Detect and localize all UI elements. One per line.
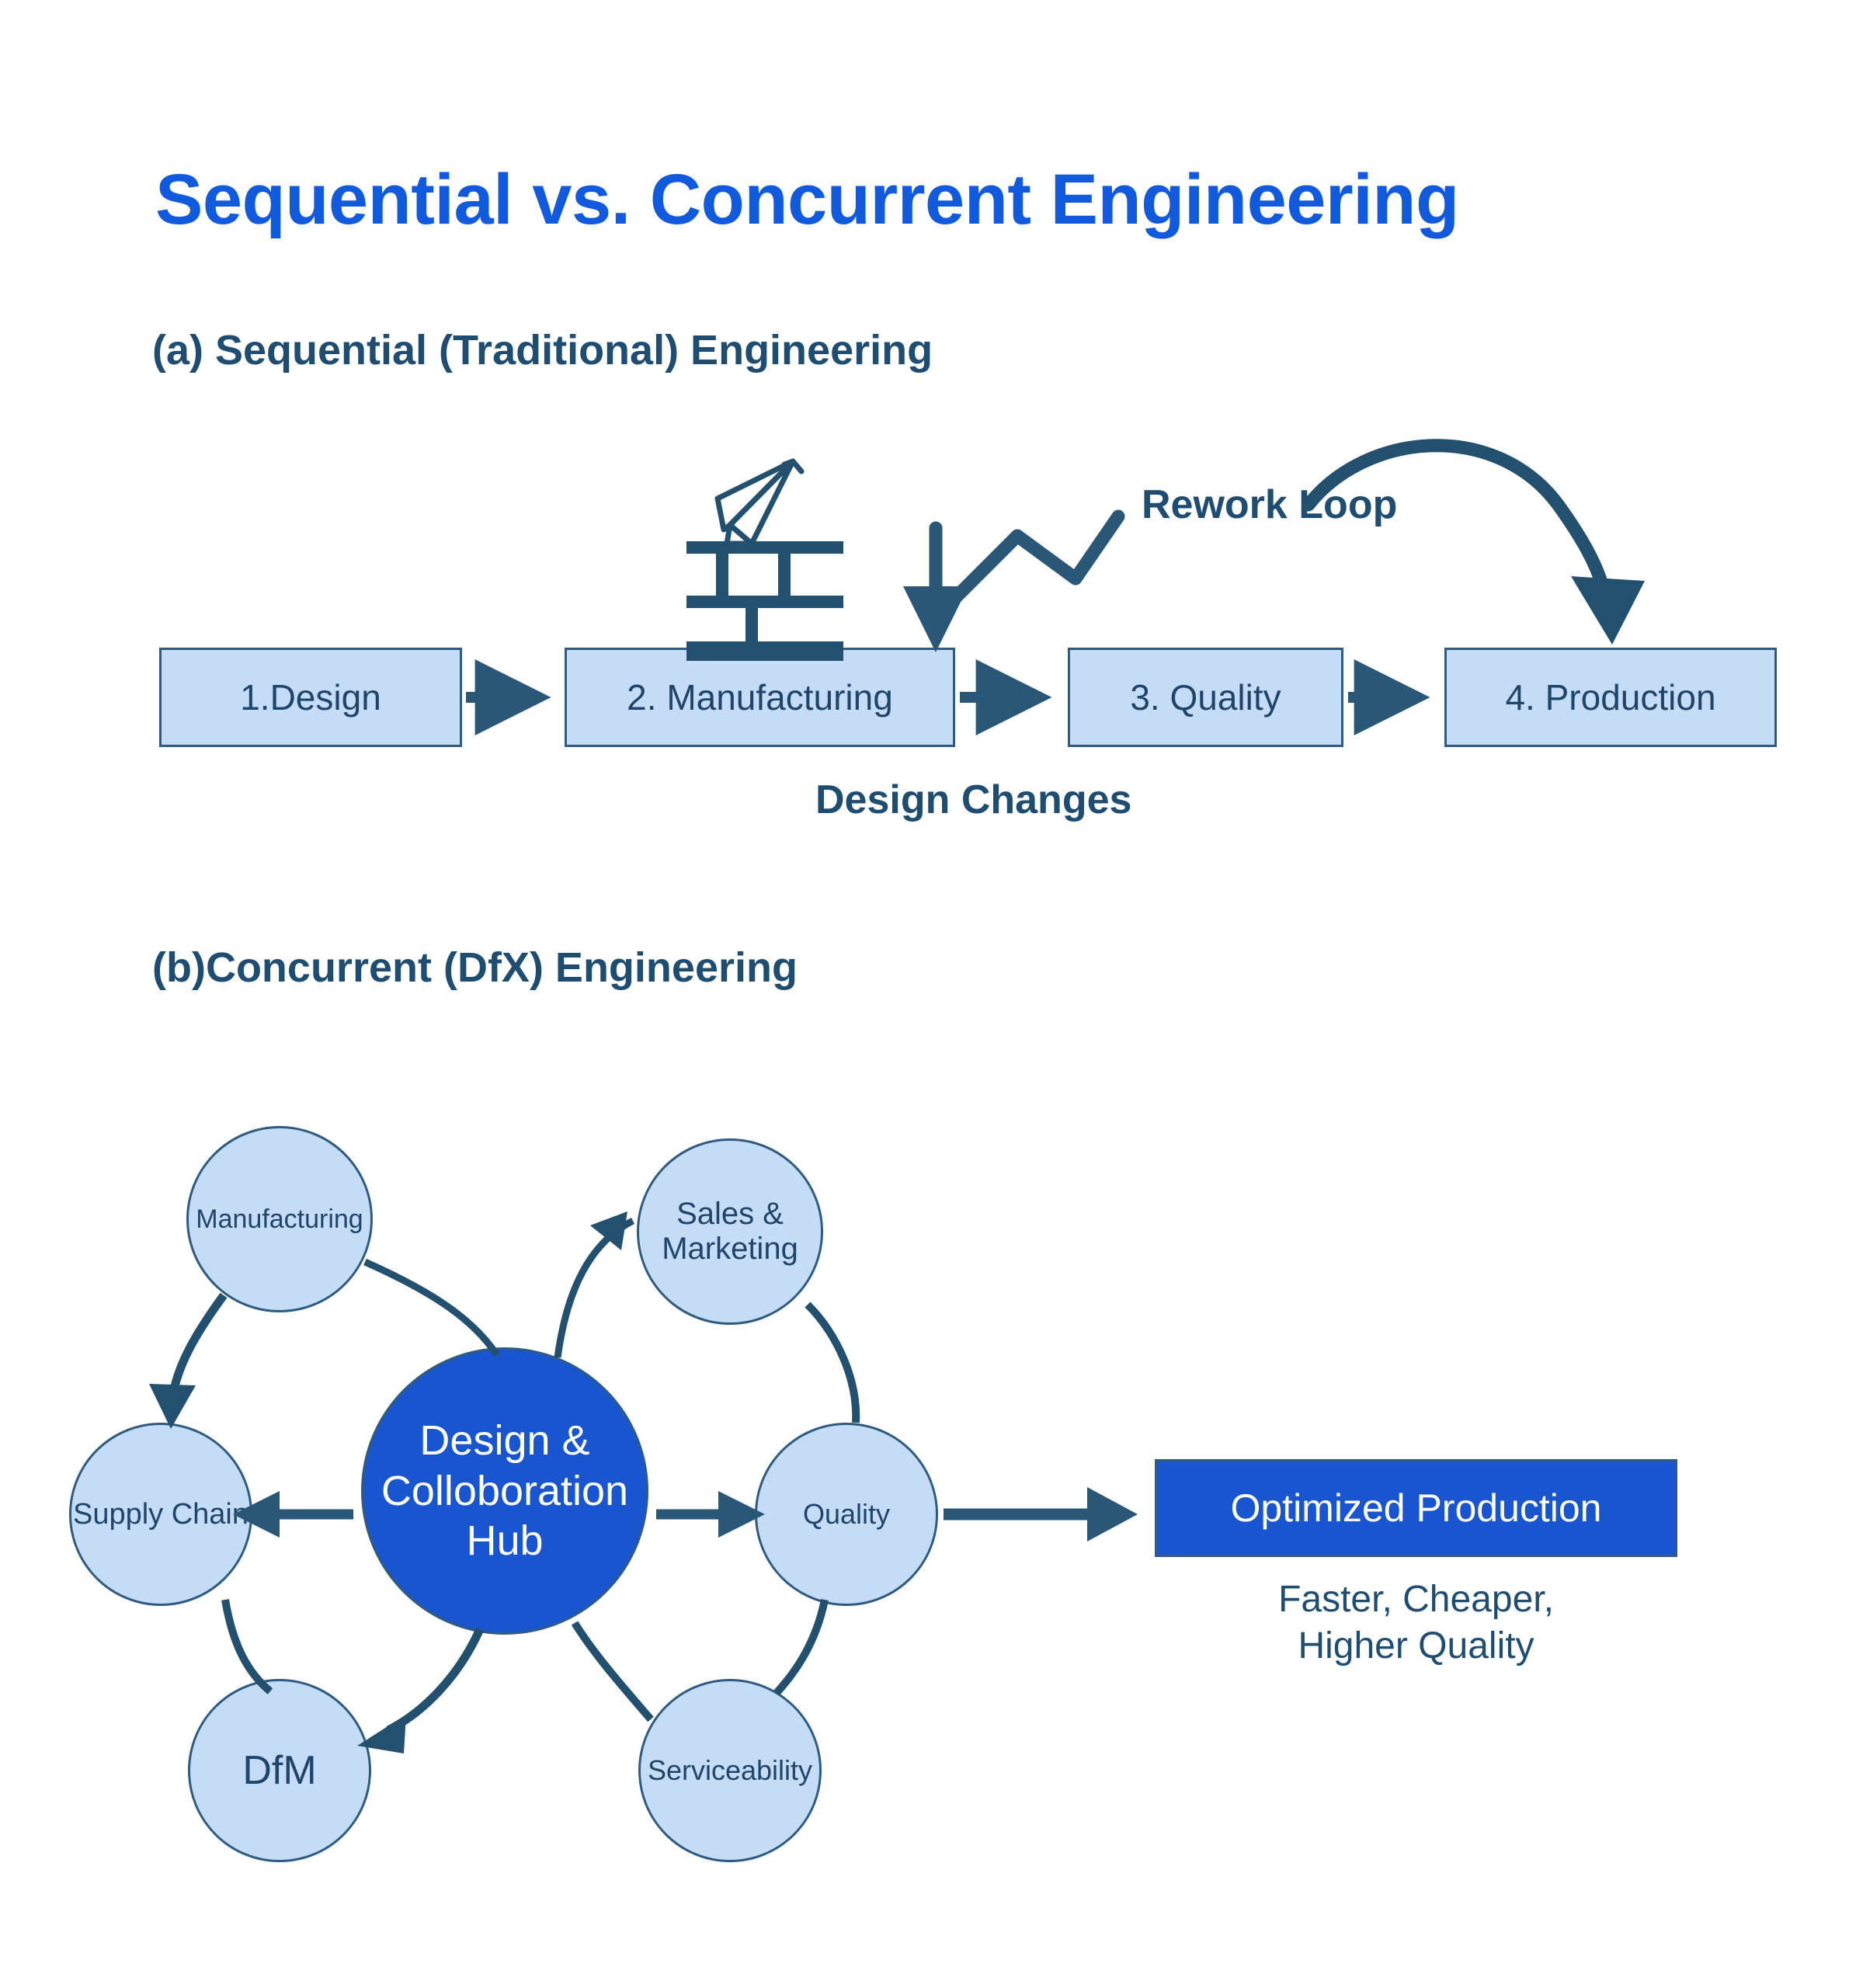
brick-wall-icon (686, 547, 843, 655)
arrow-manufacturing-to-supply-chain (149, 1295, 224, 1429)
paper-plane-icon (718, 461, 801, 544)
connector-serviceability-to-hub (575, 1623, 651, 1719)
arrow-quality-to-optimized-production (944, 1487, 1138, 1541)
connector-supply-chain-to-dfm (225, 1600, 270, 1691)
arrow-hub-to-sales-marketing (558, 1211, 633, 1357)
design-changes-zigzag-arrow (903, 516, 1118, 652)
arrow-hub-to-supply-chain (233, 1491, 353, 1538)
arrow-hub-to-dfm (357, 1629, 480, 1753)
rework-loop-arrow (1309, 446, 1645, 645)
connector-manufacturing-to-hub (365, 1262, 497, 1355)
arrow-hub-to-quality (656, 1491, 765, 1538)
connector-sales-marketing-to-quality (808, 1305, 856, 1423)
connector-quality-to-serviceability (777, 1600, 825, 1693)
diagram-page: Sequential vs. Concurrent Engineering (a… (0, 0, 1849, 1988)
diagram-vectors (0, 0, 1849, 1988)
